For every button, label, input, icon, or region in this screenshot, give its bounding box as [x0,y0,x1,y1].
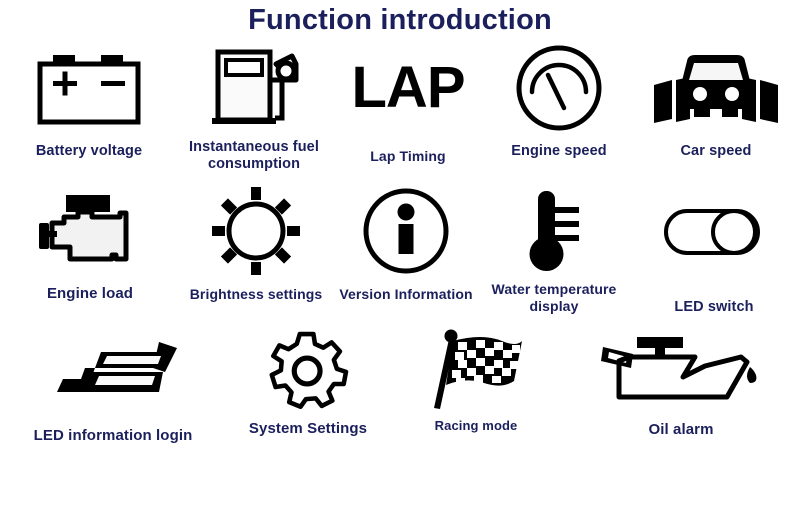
function-item-label: Brightness settings [190,286,323,303]
function-item-label: Battery voltage [36,143,142,160]
function-item-label: Lap Timing [370,148,445,165]
battery-icon [35,45,143,131]
function-item-label: System Settings [249,420,367,437]
function-item-label: LED information login [34,427,193,444]
checkered-flag-icon [424,333,528,409]
function-grid: Battery voltage Instantaneous fuel consu… [0,45,800,444]
function-item-system-settings[interactable]: System Settings [226,333,390,437]
sun-brightness-icon [210,187,302,275]
fuel-pump-icon [206,45,302,131]
function-item-led-information-login[interactable]: LED information login [0,333,226,444]
function-item-label: Oil alarm [648,421,713,438]
function-item-engine-speed[interactable]: Engine speed [486,45,632,160]
gauge-icon [515,45,603,131]
function-item-battery-voltage[interactable]: Battery voltage [0,45,178,160]
function-item-car-speed[interactable]: Car speed [632,45,800,160]
function-item-lap-timing[interactable]: LAP Lap Timing [330,45,486,165]
engine-block-icon [34,187,146,275]
toggle-switch-icon [662,187,766,275]
lap-text: LAP [352,59,465,117]
info-circle-icon [362,187,450,275]
function-item-label: Engine load [47,285,133,302]
function-item-water-temperature-display[interactable]: Water temperature display [480,187,628,315]
led-shift-bar-icon [41,333,185,409]
thermometer-icon [518,187,590,275]
function-item-label: LED switch [674,299,753,316]
car-front-icon [646,45,786,131]
function-row-3: LED information login System Settings [0,333,800,444]
function-item-engine-load[interactable]: Engine load [0,187,180,302]
oil-can-icon [595,333,767,409]
gear-icon [265,333,351,409]
function-item-brightness-settings[interactable]: Brightness settings [180,187,332,303]
function-row-2: Engine load Brightness settings [0,187,800,316]
page-title: Function introduction [0,0,800,37]
function-item-label: Version Information [339,286,472,303]
function-item-racing-mode[interactable]: Racing mode [390,333,562,434]
function-item-label: Water temperature display [481,281,627,315]
function-item-label: Racing mode [435,417,518,434]
function-item-label: Car speed [680,143,751,160]
function-item-led-switch[interactable]: LED switch [628,187,800,316]
function-item-oil-alarm[interactable]: Oil alarm [562,333,800,438]
function-item-version-information[interactable]: Version Information [332,187,480,303]
function-item-label: Engine speed [511,143,606,160]
function-item-label: Instantaneous fuel consumption [183,139,325,173]
lap-text-icon: LAP [352,45,465,131]
function-item-instantaneous-fuel-consumption[interactable]: Instantaneous fuel consumption [178,45,330,173]
function-row-1: Battery voltage Instantaneous fuel consu… [0,45,800,173]
